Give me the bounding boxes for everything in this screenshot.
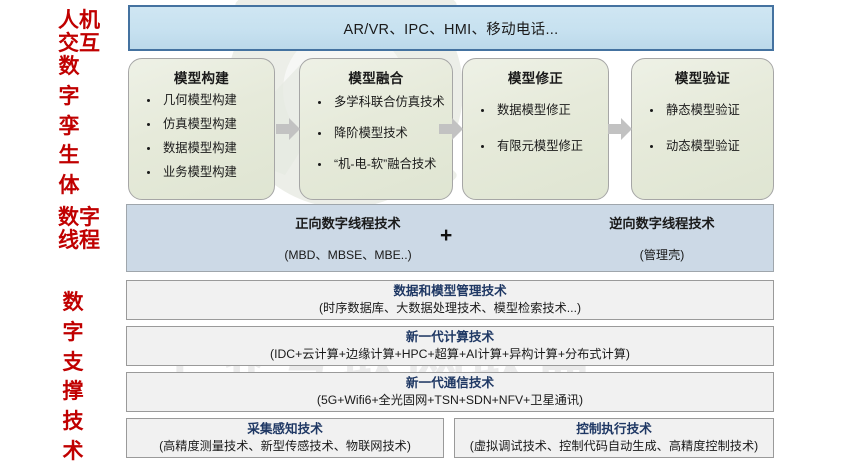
list-item: 业务模型构建	[139, 165, 268, 179]
model-box-title: 模型修正	[467, 67, 604, 87]
forward-digital-thread-block: 正向数字线程技术 (MBD、MBSE、MBE..)	[223, 213, 473, 263]
list-item: “机-电-软”融合技术	[310, 157, 446, 171]
arrow-right-icon	[276, 118, 300, 140]
list-item: 多学科联合仿真技术	[310, 95, 446, 109]
model-box-title: 模型构建	[133, 67, 270, 87]
block-subtitle: (MBD、MBSE、MBE..)	[223, 245, 473, 263]
plus-symbol: +	[440, 225, 452, 246]
model-box-model-verification: 模型验证 静态模型验证 动态模型验证	[631, 58, 774, 200]
rail-line-2: 线程	[44, 230, 114, 253]
model-box-list: 静态模型验证 动态模型验证	[636, 93, 769, 153]
top-banner-human-machine-interaction: AR/VR、IPC、HMI、移动电话...	[128, 5, 774, 51]
rail-line-1: 数字	[44, 207, 114, 230]
support-row-next-gen-communication: 新一代通信技术 (5G+Wifi6+全光固网+TSN+SDN+NFV+卫星通讯)	[126, 372, 774, 412]
model-box-title: 模型验证	[636, 67, 769, 87]
support-row-data-model-management: 数据和模型管理技术 (时序数据库、大数据处理技术、模型检索技术...)	[126, 280, 774, 320]
support-row-title: 数据和模型管理技术	[393, 284, 506, 299]
support-row-title: 新一代计算技术	[406, 330, 494, 345]
model-box-title: 模型融合	[304, 67, 448, 87]
list-item: 仿真模型构建	[139, 117, 268, 131]
support-row-subtitle: (时序数据库、大数据处理技术、模型检索技术...)	[319, 301, 581, 316]
left-rail: 人机 交互 数字孪生体 数字 线程 数字支撑技术	[0, 0, 122, 463]
digital-thread-band: 正向数字线程技术 (MBD、MBSE、MBE..) + 逆向数字线程技术 (管理…	[126, 204, 774, 272]
block-title: 正向数字线程技术	[223, 213, 473, 232]
rail-label-digital-twin: 数字孪生体	[54, 52, 84, 201]
rail-label-digital-support-tech: 数字支撑技术	[58, 288, 88, 463]
diagram-canvas: 工业互联网联盟 Alliance of Industrial Internet …	[0, 0, 841, 463]
list-item: 数据模型修正	[473, 103, 602, 117]
list-item: 数据模型构建	[139, 141, 268, 155]
arrow-right-icon	[608, 118, 632, 140]
arrow-right-icon	[439, 118, 463, 140]
list-item: 几何模型构建	[139, 93, 268, 107]
model-box-model-construction: 模型构建 几何模型构建 仿真模型构建 数据模型构建 业务模型构建	[128, 58, 275, 200]
support-row-subtitle: (高精度测量技术、新型传感技术、物联网技术)	[159, 439, 411, 454]
block-subtitle: (管理壳)	[547, 245, 777, 263]
list-item: 动态模型验证	[642, 139, 767, 153]
support-row-title: 新一代通信技术	[406, 376, 494, 391]
support-row-next-gen-computing: 新一代计算技术 (IDC+云计算+边缘计算+HPC+超算+AI计算+异构计算+分…	[126, 326, 774, 366]
model-boxes-row: 模型构建 几何模型构建 仿真模型构建 数据模型构建 业务模型构建 模型融合 多学…	[128, 58, 774, 200]
support-row-subtitle: (5G+Wifi6+全光固网+TSN+SDN+NFV+卫星通讯)	[317, 393, 583, 408]
model-box-list: 数据模型修正 有限元模型修正	[467, 93, 604, 153]
block-title: 逆向数字线程技术	[547, 213, 777, 232]
model-box-model-fusion: 模型融合 多学科联合仿真技术 降阶模型技术 “机-电-软”融合技术	[299, 58, 453, 200]
model-box-model-correction: 模型修正 数据模型修正 有限元模型修正	[462, 58, 609, 200]
rail-line-1: 人机	[44, 10, 114, 33]
support-row-sensing: 采集感知技术 (高精度测量技术、新型传感技术、物联网技术)	[126, 418, 444, 458]
support-row-control-execution: 控制执行技术 (虚拟调试技术、控制代码自动生成、高精度控制技术)	[454, 418, 774, 458]
top-banner-label: AR/VR、IPC、HMI、移动电话...	[344, 18, 559, 39]
support-row-subtitle: (虚拟调试技术、控制代码自动生成、高精度控制技术)	[470, 439, 758, 454]
reverse-digital-thread-block: 逆向数字线程技术 (管理壳)	[547, 213, 777, 263]
rail-label-human-machine-interaction: 人机 交互	[44, 10, 114, 55]
support-row-title: 采集感知技术	[247, 422, 323, 437]
model-box-list: 几何模型构建 仿真模型构建 数据模型构建 业务模型构建	[133, 93, 270, 180]
model-box-list: 多学科联合仿真技术 降阶模型技术 “机-电-软”融合技术	[304, 93, 448, 171]
list-item: 降阶模型技术	[310, 126, 446, 140]
support-row-subtitle: (IDC+云计算+边缘计算+HPC+超算+AI计算+异构计算+分布式计算)	[270, 347, 630, 362]
support-row-title: 控制执行技术	[576, 422, 652, 437]
rail-label-digital-thread: 数字 线程	[44, 207, 114, 252]
list-item: 静态模型验证	[642, 103, 767, 117]
list-item: 有限元模型修正	[473, 139, 602, 153]
